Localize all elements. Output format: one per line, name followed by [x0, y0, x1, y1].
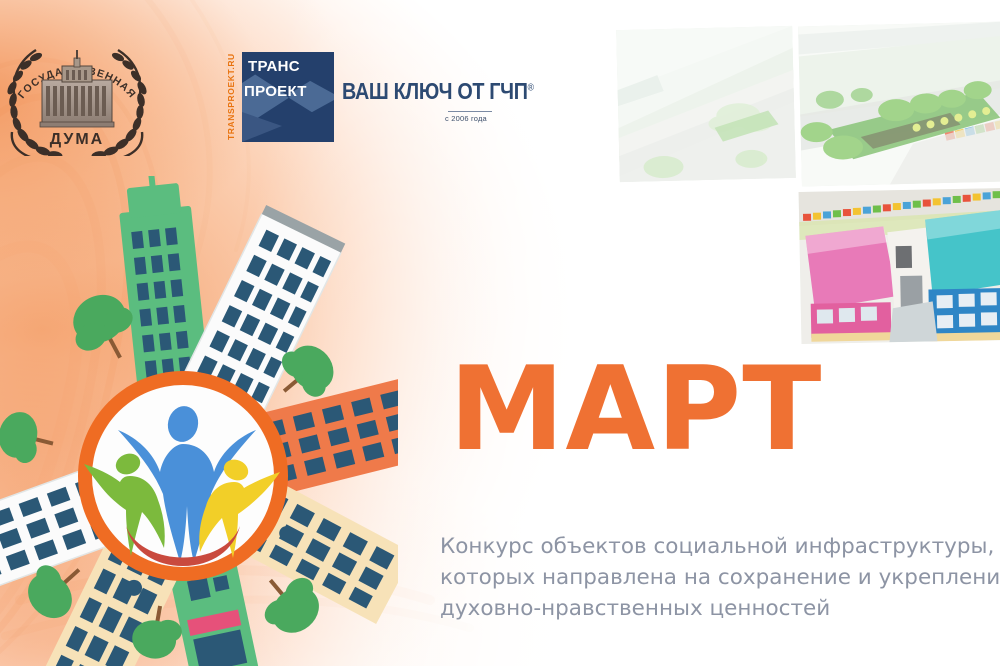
subtitle-line-1: Конкурс объектов социальной инфраструкту…	[440, 531, 1000, 562]
architectural-rendering-left	[616, 26, 796, 182]
state-duma-emblem: ГОСУДАРСТВЕННАЯ ДУМА	[2, 36, 152, 156]
subtitle-line-3: духовно-нравственных ценностей	[440, 593, 1000, 624]
transproekt-logo[interactable]: TRANSPROEKT.RU ТРАНС ПРОЕКТ ВАШ КЛЮЧ ОТ …	[226, 52, 536, 152]
transproekt-word-proekt: ПРОЕКТ	[244, 83, 307, 100]
duma-building-icon	[40, 50, 114, 127]
transproekt-slogan: ВАШ КЛЮЧ ОТ ГЧП®	[342, 78, 534, 105]
kindergarten-model-photo	[799, 188, 1000, 344]
presentation-slide: ГОСУДАРСТВЕННАЯ ДУМА	[0, 0, 1000, 666]
transproekt-slogan-text: ВАШ КЛЮЧ ОТ ГЧП	[342, 78, 528, 104]
transproekt-url-vertical: TRANSPROEKT.RU	[226, 54, 240, 140]
photo-collage	[618, 18, 1000, 348]
transproekt-since: с 2006 года	[445, 114, 487, 123]
three-people-circle-logo	[78, 371, 288, 581]
subtitle-line-2: которых направлена на сохранение и укреп…	[440, 562, 1000, 593]
transproekt-since-rule	[448, 111, 492, 112]
radial-city-buildings	[0, 176, 398, 666]
architectural-rendering-right	[798, 22, 1000, 187]
duma-bottom-text: ДУМА	[50, 131, 104, 148]
registered-mark-icon: ®	[528, 82, 534, 93]
slide-subtitle: Конкурс объектов социальной инфраструкту…	[440, 531, 1000, 624]
transproekt-word-trans: ТРАНС	[248, 58, 300, 75]
page-title: МАРТ	[449, 352, 822, 468]
